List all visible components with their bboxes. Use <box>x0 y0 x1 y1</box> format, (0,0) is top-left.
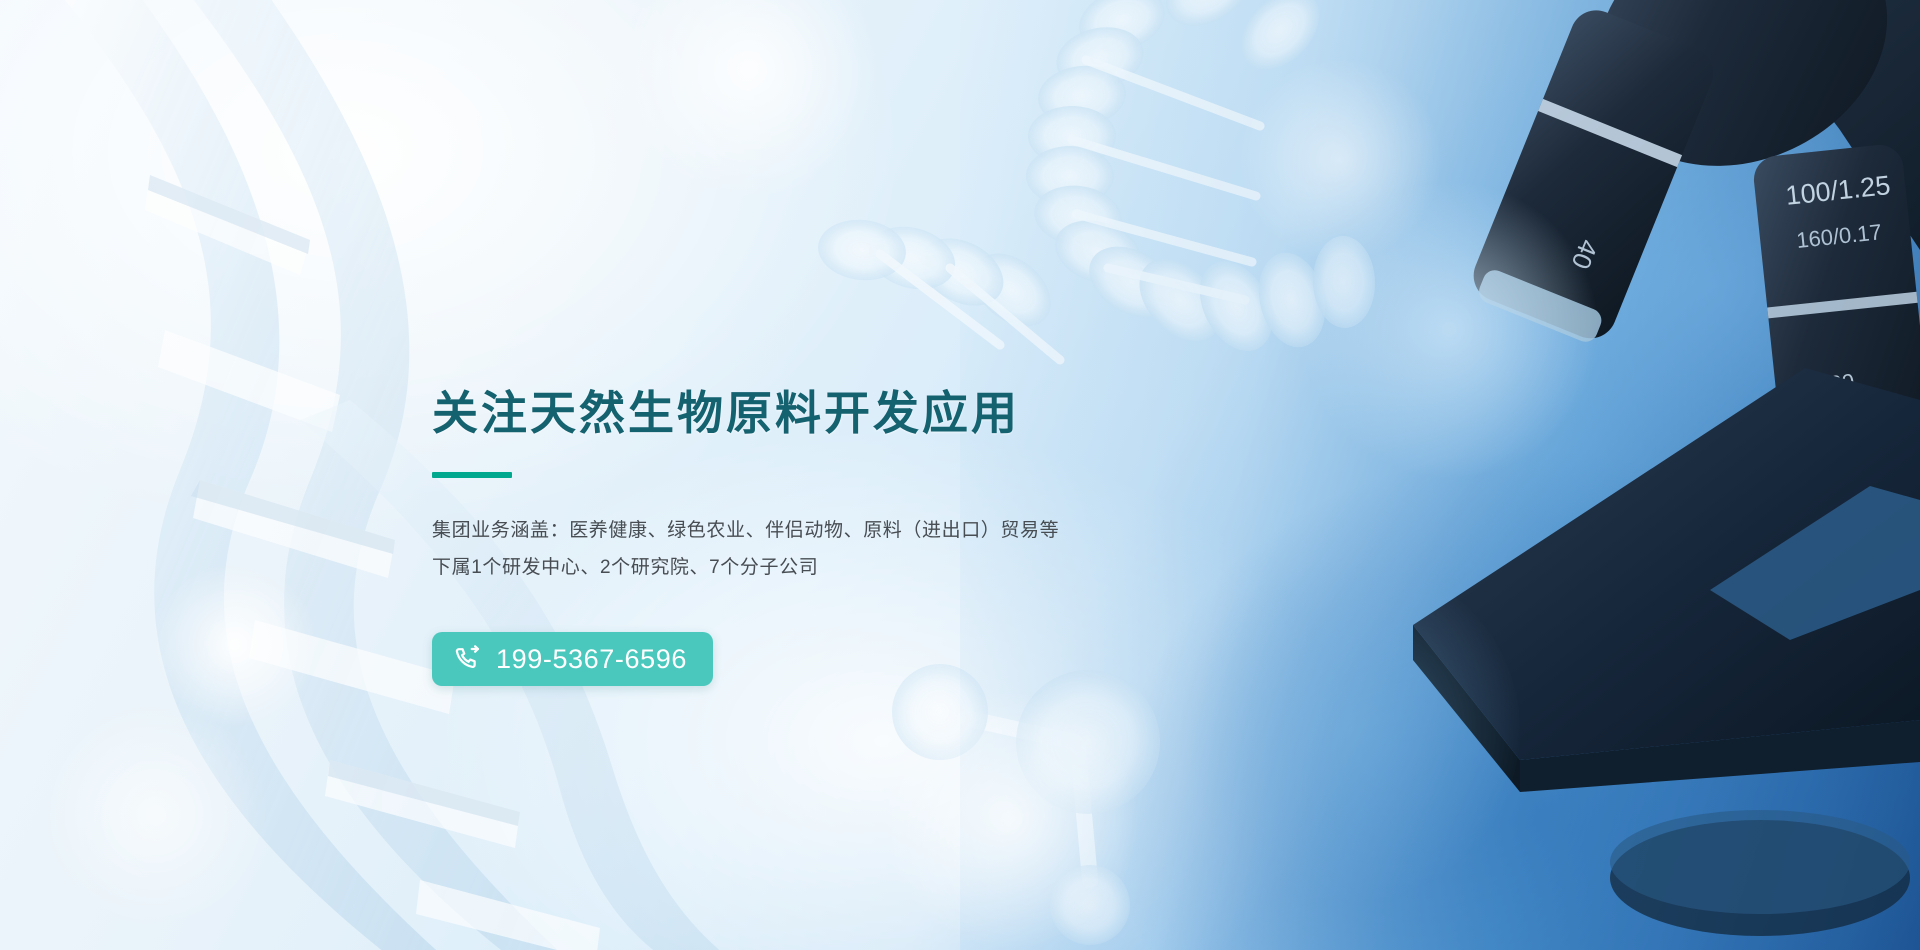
page-title: 关注天然生物原料开发应用 <box>432 386 1192 440</box>
microscope-stage <box>1413 368 1920 936</box>
bokeh-light <box>40 700 270 930</box>
hero-content: 关注天然生物原料开发应用 集团业务涵盖：医养健康、绿色农业、伴侣动物、原料（进出… <box>432 386 1192 686</box>
svg-text:160/0.17: 160/0.17 <box>1795 219 1883 253</box>
microscope-objective-lenses: 40 100/1.25 160/0.17 100 <box>1464 0 1920 486</box>
hero-description-line-2: 下属1个研发中心、2个研究院、7个分子公司 <box>432 549 1192 586</box>
svg-text:100/1.25: 100/1.25 <box>1784 170 1892 211</box>
bokeh-light <box>150 560 320 730</box>
phone-number-label: 199-5367-6596 <box>496 646 687 673</box>
bokeh-light <box>880 690 1140 950</box>
beaded-dna-strand <box>815 0 1376 363</box>
bokeh-light <box>1240 60 1440 260</box>
bokeh-light <box>1300 180 1600 480</box>
phone-forward-icon <box>454 645 482 673</box>
hero-description-line-1: 集团业务涵盖：医养健康、绿色农业、伴侣动物、原料（进出口）贸易等 <box>432 512 1192 549</box>
svg-text:40: 40 <box>1565 235 1604 273</box>
hero-banner: 40 100/1.25 160/0.17 100 <box>0 0 1920 950</box>
molecule-spheres <box>892 664 1160 945</box>
phone-cta-button[interactable]: 199-5367-6596 <box>432 632 713 686</box>
svg-text:100: 100 <box>1816 369 1855 398</box>
accent-divider <box>432 472 512 478</box>
hero-description: 集团业务涵盖：医养健康、绿色农业、伴侣动物、原料（进出口）贸易等 下属1个研发中… <box>432 512 1192 586</box>
bokeh-light <box>1180 560 1520 900</box>
bokeh-light <box>620 0 880 200</box>
